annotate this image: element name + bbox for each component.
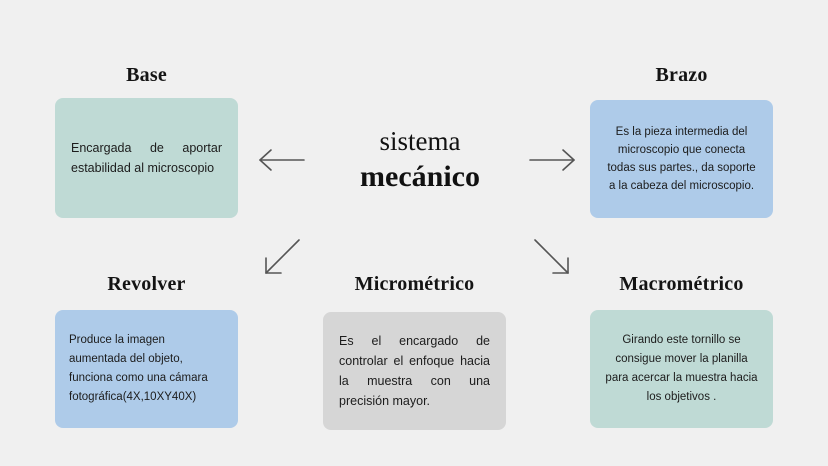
node-text-macrometrico: Girando este tornillo se consigue mover … xyxy=(604,331,759,407)
node-title-revolver: Revolver xyxy=(55,273,238,296)
diagram-canvas: sistema mecánico Base Encargada de aport… xyxy=(0,0,828,466)
node-text-base: Encargada de aportar estabilidad al micr… xyxy=(71,138,222,178)
arrow-down-right-icon xyxy=(524,234,580,290)
node-text-brazo: Es la pieza intermedia del microscopio q… xyxy=(604,123,759,195)
node-title-brazo: Brazo xyxy=(590,64,773,87)
node-title-macrometrico: Macrométrico xyxy=(590,273,773,296)
arrow-down-left-icon xyxy=(254,234,310,290)
node-title-micrometrico: Micrométrico xyxy=(323,273,506,296)
center-title: sistema mecánico xyxy=(300,124,540,196)
node-box-brazo: Es la pieza intermedia del microscopio q… xyxy=(590,100,773,218)
arrow-right-icon xyxy=(524,140,584,180)
center-title-line1: sistema xyxy=(300,124,540,158)
node-box-macrometrico: Girando este tornillo se consigue mover … xyxy=(590,310,773,428)
node-title-base: Base xyxy=(55,64,238,87)
node-box-revolver: Produce la imagen aumentada del objeto, … xyxy=(55,310,238,428)
center-title-line2: mecánico xyxy=(300,158,540,196)
node-text-micrometrico: Es el encargado de controlar el enfoque … xyxy=(339,331,490,411)
node-box-base: Encargada de aportar estabilidad al micr… xyxy=(55,98,238,218)
node-box-micrometrico: Es el encargado de controlar el enfoque … xyxy=(323,312,506,430)
arrow-left-icon xyxy=(252,140,312,180)
node-text-revolver: Produce la imagen aumentada del objeto, … xyxy=(69,331,224,407)
